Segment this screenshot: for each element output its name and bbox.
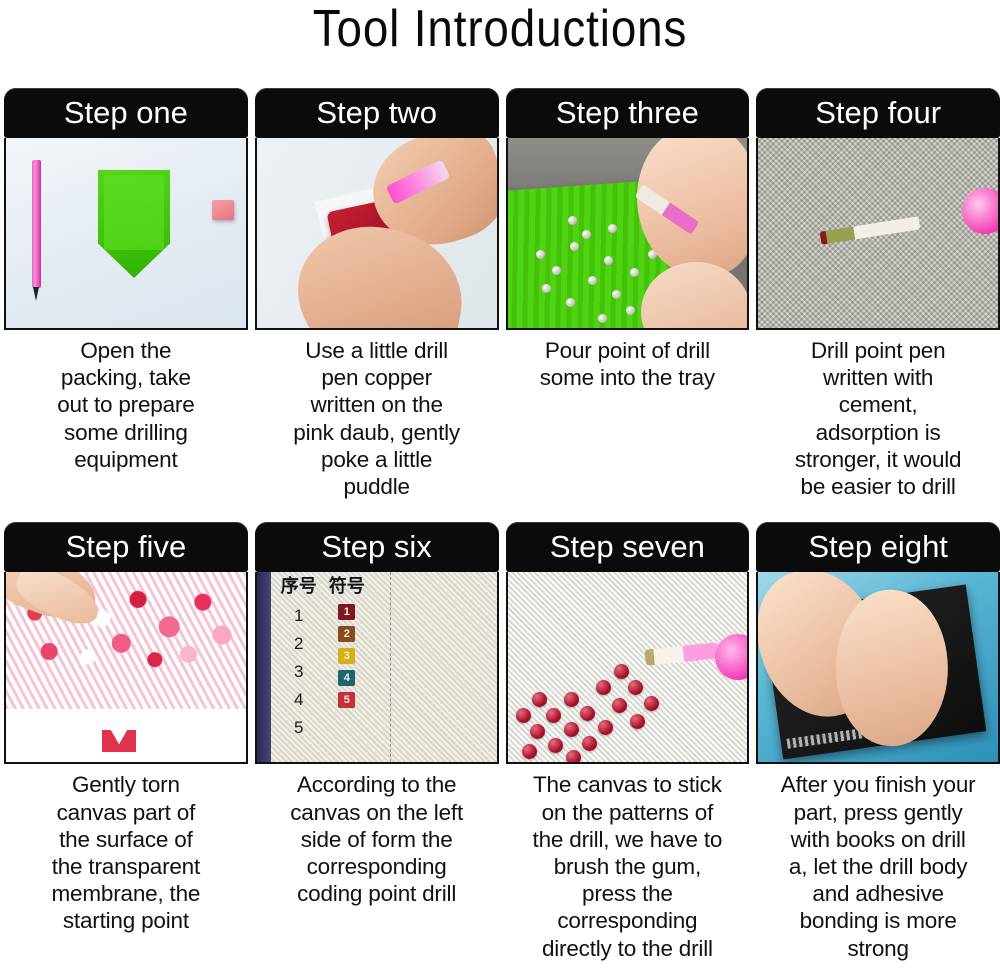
drill-bead-icon: [566, 298, 575, 307]
canvas-legend-chart-photo: 序号 1 2 3 4 5 符号 1 2 3: [255, 572, 499, 764]
step-panel-four: Step four Drill point pen written with c…: [756, 88, 1000, 500]
stray-pattern-mark-icon: [102, 730, 136, 752]
drill-bead-icon: [536, 250, 545, 259]
step-header-four: Step four: [756, 88, 1000, 138]
red-drill-icon: [644, 696, 659, 711]
step-header-seven: Step seven: [506, 522, 750, 572]
step-panel-six: Step six 序号 1 2 3 4 5: [255, 522, 499, 962]
step-caption-four: Drill point pen written with cement, ads…: [756, 337, 1000, 500]
legend-table: 序号 1 2 3 4 5 符号 1 2 3: [271, 572, 391, 762]
step-caption-seven: The canvas to stick on the patterns of t…: [506, 771, 750, 962]
page-title: Tool Introductions: [60, 2, 940, 57]
drill-bead-icon: [542, 284, 551, 293]
legend-column-gap: [317, 578, 329, 758]
legend-index-value: 2: [294, 635, 303, 652]
red-drill-icon: [530, 724, 545, 739]
step-header-two: Step two: [255, 88, 499, 138]
step-panel-eight: Step eight After you finish your part, p…: [756, 522, 1000, 962]
step-caption-six: According to the canvas on the left side…: [255, 771, 499, 907]
red-drill-icon: [546, 708, 561, 723]
legend-symbol-swatch: 5: [338, 692, 355, 708]
red-drill-icon: [516, 708, 531, 723]
legend-index-value: 4: [294, 691, 303, 708]
step-caption-eight: After you finish your part, press gently…: [756, 771, 1000, 962]
step-panel-two: Step two Use a little drill pen copper w…: [255, 88, 499, 500]
hands-pressing-book-photo: [756, 572, 1000, 764]
step-caption-five: Gently torn canvas part of the surface o…: [4, 771, 248, 934]
legend-index-header: 序号: [281, 578, 317, 596]
drill-bead-icon: [582, 230, 591, 239]
drill-bead-icon: [626, 306, 635, 315]
step-panel-five: Step five Gently torn canvas part of the…: [4, 522, 248, 962]
green-tray-icon: [98, 170, 170, 278]
red-drill-icon: [612, 698, 627, 713]
drill-bead-icon: [588, 276, 597, 285]
red-drill-icon: [532, 692, 547, 707]
drill-bead-icon: [552, 266, 561, 275]
red-drill-icon: [580, 706, 595, 721]
legend-symbol-swatch: 4: [338, 670, 355, 686]
red-drill-icon: [566, 750, 581, 764]
drills-in-green-tray-photo: [506, 138, 750, 330]
pen-tip-with-drill-icon: [820, 216, 921, 244]
pink-pen-grip-icon: [962, 188, 1000, 234]
pink-pen-grip-icon: [715, 634, 749, 680]
legend-index-value: 3: [294, 663, 303, 680]
red-drill-icon: [564, 722, 579, 737]
legend-symbol-column: 符号 1 2 3 4 5: [329, 578, 365, 758]
step-header-six: Step six: [255, 522, 499, 572]
step-header-eight: Step eight: [756, 522, 1000, 572]
step-header-three: Step three: [506, 88, 750, 138]
drill-bead-icon: [608, 224, 617, 233]
drill-bead-icon: [570, 242, 579, 251]
red-drill-icon: [522, 744, 537, 759]
step-header-five: Step five: [4, 522, 248, 572]
pen-poking-wax-photo: [255, 138, 499, 330]
canvas-edge-icon: [257, 572, 271, 762]
steps-row-bottom: Step five Gently torn canvas part of the…: [4, 522, 1000, 962]
step-caption-three: Pour point of drill some into the tray: [506, 337, 750, 391]
drill-bead-icon: [612, 290, 621, 299]
steps-grid: Step one Open the packing, take out to p…: [4, 88, 1000, 962]
red-drill-icon: [628, 680, 643, 695]
step-panel-three: Step three: [506, 88, 750, 500]
drill-bead-icon: [568, 216, 577, 225]
red-drill-icon: [548, 738, 563, 753]
blank-canvas-area: [391, 572, 496, 762]
pen-tip-holding-drill-photo: [756, 138, 1000, 330]
legend-symbol-swatch: 3: [338, 648, 355, 664]
pink-pen-icon: [645, 642, 720, 666]
pink-pen-icon: [32, 160, 41, 288]
peeling-film-floral-canvas-photo: [4, 572, 248, 764]
step-panel-seven: Step seven: [506, 522, 750, 962]
red-drill-icon: [614, 664, 629, 679]
drill-bead-icon: [604, 256, 613, 265]
step-caption-two: Use a little drill pen copper written on…: [255, 337, 499, 500]
steps-row-top: Step one Open the packing, take out to p…: [4, 88, 1000, 500]
legend-symbol-header: 符号: [329, 578, 365, 596]
step-header-one: Step one: [4, 88, 248, 138]
step-panel-one: Step one Open the packing, take out to p…: [4, 88, 248, 500]
legend-symbol-swatch: 1: [338, 604, 355, 620]
legend-symbol-swatch: 2: [338, 626, 355, 642]
tools-laid-out-photo: [4, 138, 248, 330]
pink-wax-square-icon: [212, 200, 234, 220]
drill-bead-icon: [598, 314, 607, 323]
step-caption-one: Open the packing, take out to prepare so…: [4, 337, 248, 473]
legend-index-column: 序号 1 2 3 4 5: [281, 578, 317, 758]
legend-index-value: 5: [294, 719, 303, 736]
legend-index-value: 1: [294, 607, 303, 624]
red-drill-icon: [630, 714, 645, 729]
red-drill-icon: [564, 692, 579, 707]
red-drill-icon: [582, 736, 597, 751]
red-drill-icon: [596, 680, 611, 695]
tool-introductions-page: Tool Introductions Step one Open the pac…: [0, 0, 1000, 980]
red-drills-placed-photo: [506, 572, 750, 764]
red-drill-icon: [598, 720, 613, 735]
drill-bead-icon: [630, 268, 639, 277]
